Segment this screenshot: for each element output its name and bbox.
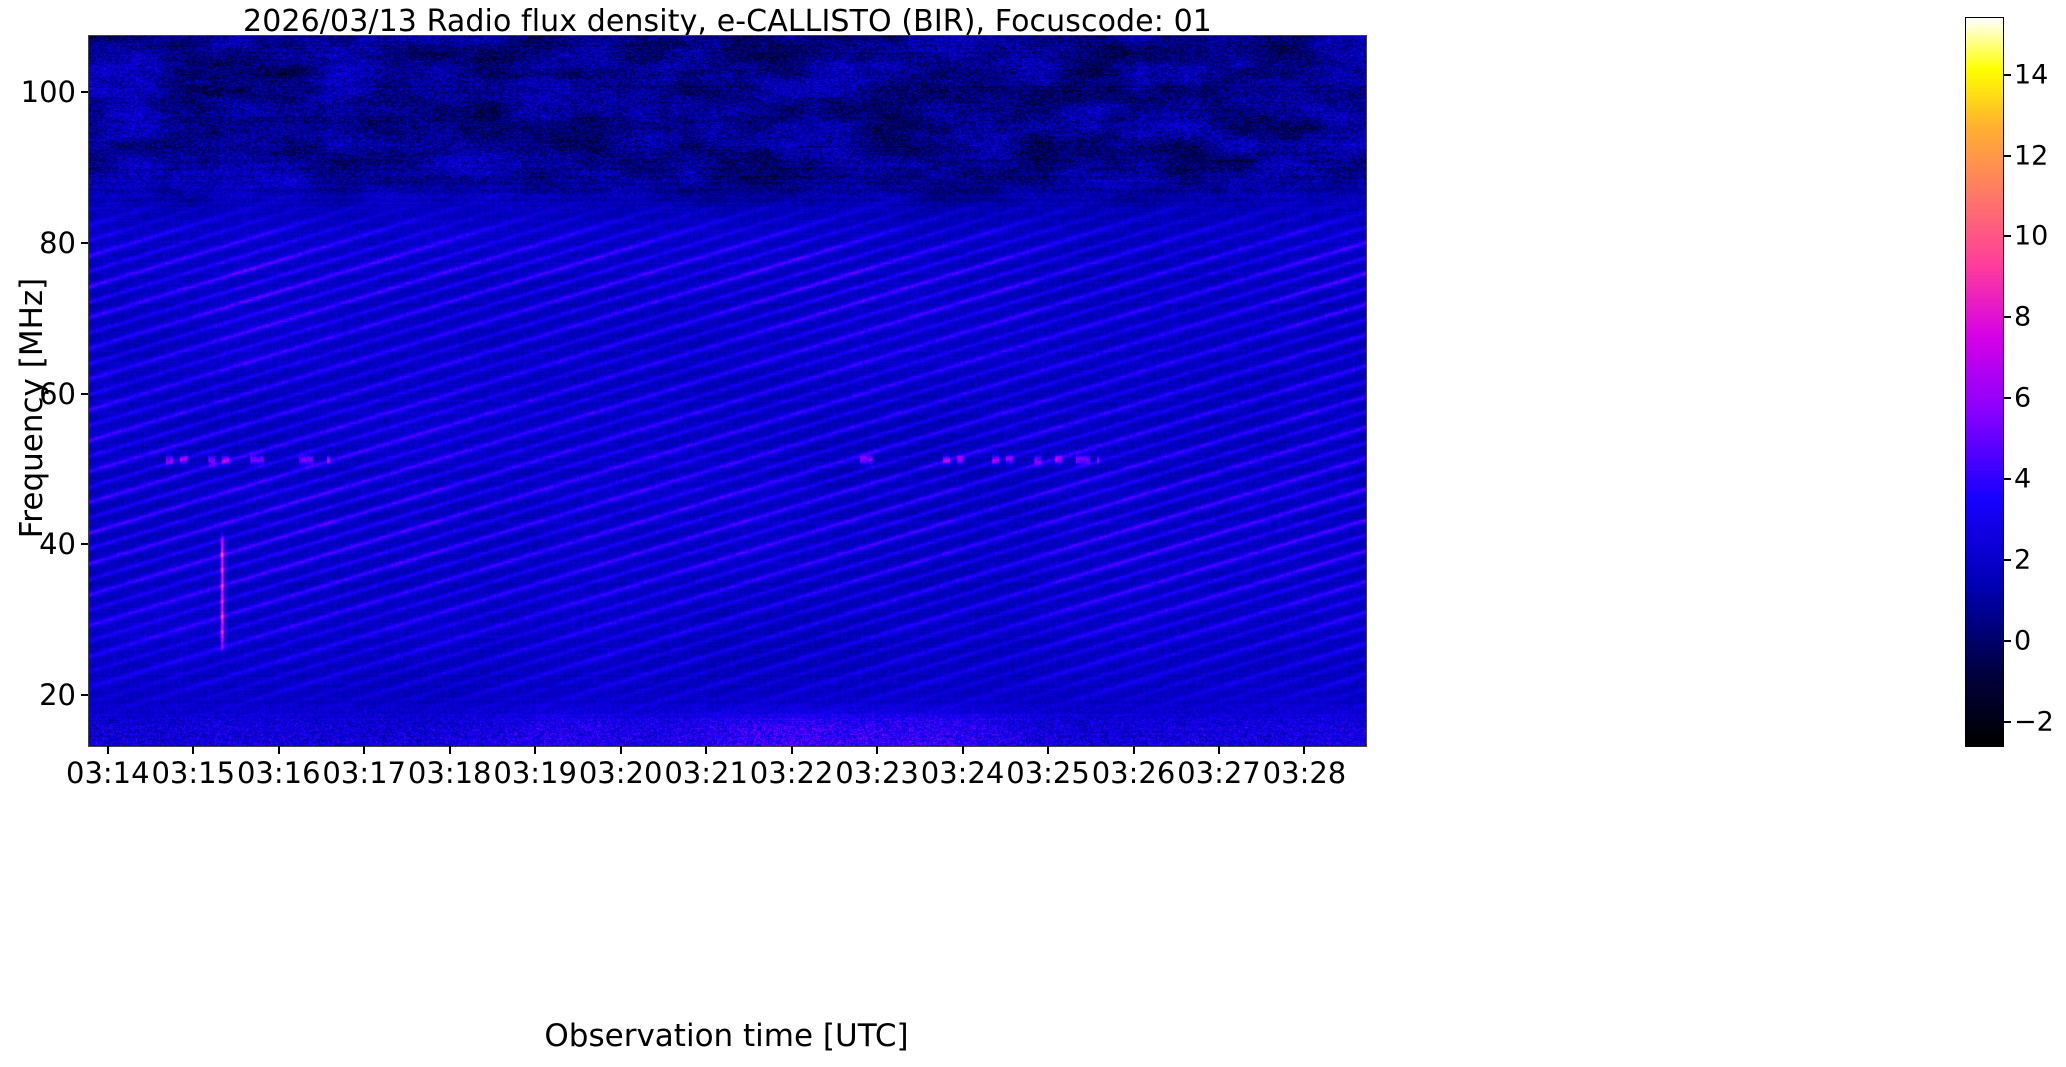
x-tick-label: 03:28 — [1263, 756, 1347, 790]
x-tick-label: 03:17 — [322, 756, 406, 790]
y-tick-label: 80 — [39, 226, 76, 260]
x-tick-label: 03:26 — [1092, 756, 1176, 790]
y-tick-mark — [81, 543, 88, 545]
figure-title: 2026/03/13 Radio flux density, e-CALLIST… — [0, 4, 1455, 39]
colorbar-tick-mark — [2003, 478, 2011, 480]
x-tick-mark — [107, 746, 109, 754]
x-tick-mark — [278, 746, 280, 754]
x-tick-label: 03:20 — [579, 756, 663, 790]
colorbar-gradient — [1966, 18, 2003, 746]
colorbar-tick-label: 14 — [2014, 59, 2048, 90]
y-tick-label: 60 — [39, 377, 76, 411]
colorbar-tick-mark — [2003, 74, 2011, 76]
x-tick-label: 03:18 — [408, 756, 492, 790]
colorbar — [1965, 17, 2004, 747]
x-tick-label: 03:24 — [921, 756, 1005, 790]
x-tick-mark — [876, 746, 878, 754]
x-tick-label: 03:21 — [664, 756, 748, 790]
y-axis-tick-labels: 10080604020 — [0, 0, 76, 1067]
y-tick-label: 20 — [39, 678, 76, 712]
colorbar-tick-label: 4 — [2014, 464, 2031, 495]
x-tick-label: 03:16 — [237, 756, 321, 790]
x-tick-label: 03:19 — [493, 756, 577, 790]
colorbar-tick-label: 12 — [2014, 140, 2048, 171]
colorbar-tick-mark — [2003, 155, 2011, 157]
x-tick-label: 03:14 — [66, 756, 150, 790]
x-tick-label: 03:25 — [1006, 756, 1090, 790]
x-tick-label: 03:27 — [1177, 756, 1261, 790]
x-tick-mark — [791, 746, 793, 754]
x-tick-label: 03:22 — [750, 756, 834, 790]
y-tick-label: 40 — [39, 527, 76, 561]
y-tick-mark — [81, 91, 88, 93]
colorbar-tick-mark — [2003, 559, 2011, 561]
colorbar-tick-mark — [2003, 721, 2011, 723]
colorbar-tick-mark — [2003, 397, 2011, 399]
x-tick-mark — [534, 746, 536, 754]
x-tick-mark — [449, 746, 451, 754]
colorbar-tick-mark — [2003, 640, 2011, 642]
spectrogram-image — [89, 36, 1366, 746]
x-tick-mark — [962, 746, 964, 754]
colorbar-tick-label: 6 — [2014, 383, 2031, 414]
colorbar-tick-label: 8 — [2014, 302, 2031, 333]
spectrogram-figure: 2026/03/13 Radio flux density, e-CALLIST… — [0, 0, 2066, 1067]
y-tick-mark — [81, 694, 88, 696]
spectrogram-plot-area — [88, 35, 1367, 747]
colorbar-tick-label: 2 — [2014, 544, 2031, 575]
x-tick-mark — [192, 746, 194, 754]
colorbar-tick-mark — [2003, 316, 2011, 318]
x-tick-mark — [1133, 746, 1135, 754]
colorbar-tick-label: 10 — [2014, 221, 2048, 252]
colorbar-tick-label: 0 — [2014, 625, 2031, 656]
x-tick-label: 03:23 — [835, 756, 919, 790]
y-tick-mark — [81, 242, 88, 244]
colorbar-tick-label: −2 — [2014, 706, 2054, 737]
x-tick-label: 03:15 — [151, 756, 235, 790]
x-tick-mark — [1218, 746, 1220, 754]
y-tick-label: 100 — [21, 75, 76, 109]
x-tick-mark — [620, 746, 622, 754]
x-tick-mark — [705, 746, 707, 754]
colorbar-tick-mark — [2003, 235, 2011, 237]
y-tick-mark — [81, 393, 88, 395]
x-tick-mark — [1047, 746, 1049, 754]
x-tick-mark — [363, 746, 365, 754]
x-axis-label: Observation time [UTC] — [88, 1018, 1365, 1054]
x-tick-mark — [1303, 746, 1305, 754]
